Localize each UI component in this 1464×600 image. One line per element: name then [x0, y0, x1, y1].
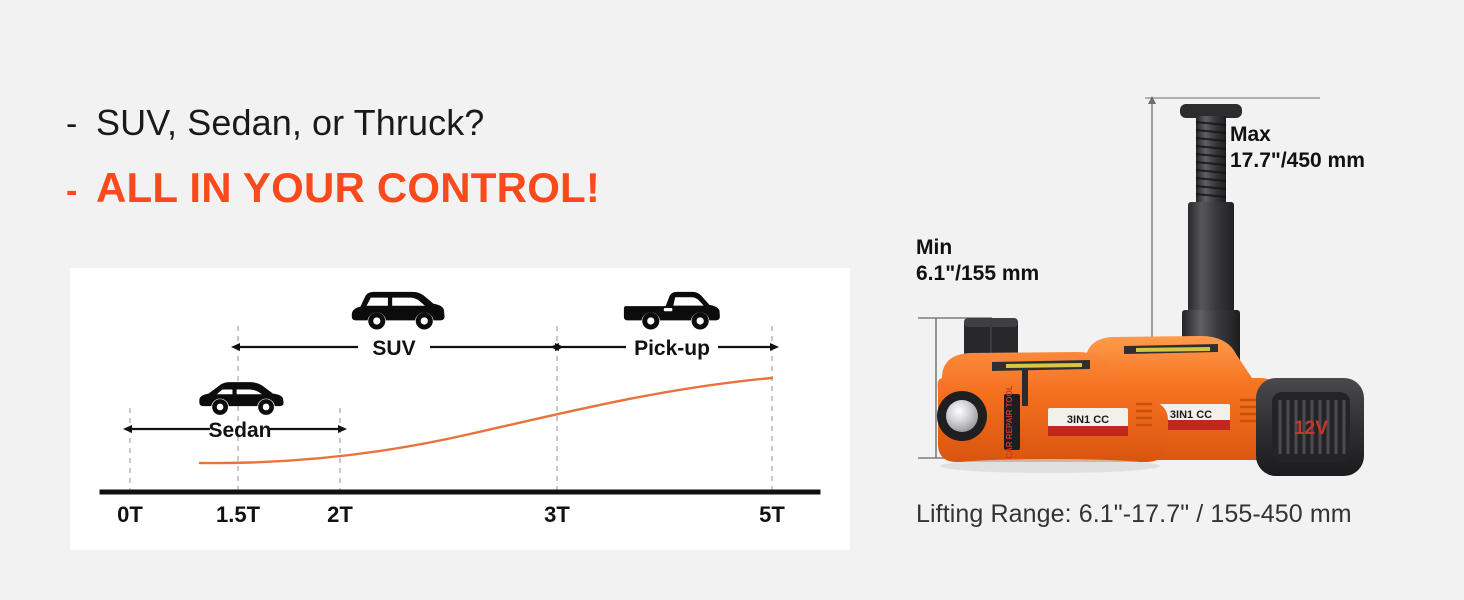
capacity-curve	[200, 378, 772, 463]
front-led-lens	[946, 400, 978, 432]
front-plate-stripe	[1048, 426, 1128, 436]
pickup-icon	[624, 292, 720, 330]
max-label-value: 17.7"/450 mm	[1230, 148, 1365, 174]
headline-row-2: - ALL IN YOUR CONTROL!	[66, 167, 786, 209]
tick-label-0: 0T	[117, 502, 143, 527]
max-dimension-label: Max 17.7"/450 mm	[1230, 122, 1365, 173]
headline-dash-2: -	[66, 174, 96, 208]
headline-dash-1: -	[66, 107, 96, 141]
sedan-icon	[199, 382, 283, 415]
front-arm-post	[1022, 370, 1028, 406]
product-image-block: 3IN1 CC 12V	[900, 60, 1440, 550]
capacity-chart: Sedan SUV	[70, 268, 850, 550]
ram-saddle-cap	[1180, 104, 1242, 118]
bracket-label-sedan: Sedan	[208, 419, 271, 442]
tick-label-4: 5T	[759, 502, 785, 527]
tick-label-1: 1.5T	[216, 502, 261, 527]
voltage-badge: 12V	[1294, 418, 1328, 439]
side-label-text: CAR REPAIR TOOL	[1005, 385, 1014, 459]
suv-icon	[352, 292, 445, 330]
bracket-pickup: Pick-up	[559, 337, 770, 360]
bracket-label-suv: SUV	[372, 337, 415, 360]
headline-block: - SUV, Sedan, or Thruck? - ALL IN YOUR C…	[66, 105, 786, 209]
min-label-value: 6.1"/155 mm	[916, 261, 1039, 287]
chart-tick-labels: 0T 1.5T 2T 3T 5T	[117, 502, 785, 527]
lifting-range-caption: Lifting Range: 6.1"-17.7" / 155-450 mm	[916, 500, 1352, 529]
bracket-label-pickup: Pick-up	[634, 337, 710, 360]
headline-line-2: ALL IN YOUR CONTROL!	[96, 167, 600, 209]
tick-label-2: 2T	[327, 502, 353, 527]
headline-row-1: - SUV, Sedan, or Thruck?	[66, 105, 786, 141]
bracket-suv: SUV	[240, 337, 555, 360]
headline-line-1: SUV, Sedan, or Thruck?	[96, 105, 484, 141]
min-label-title: Min	[916, 235, 1039, 261]
front-base-shadow	[940, 459, 1160, 473]
ram-stage-upper	[1188, 202, 1234, 312]
min-dimension-label: Min 6.1"/155 mm	[916, 235, 1039, 286]
max-label-title: Max	[1230, 122, 1365, 148]
infographic-canvas: - SUV, Sedan, or Thruck? - ALL IN YOUR C…	[0, 0, 1464, 600]
tick-label-3: 3T	[544, 502, 570, 527]
capacity-chart-panel: Sedan SUV	[70, 268, 850, 550]
front-brand-text: 3IN1 CC	[1067, 414, 1109, 426]
bracket-sedan: Sedan	[132, 419, 338, 442]
rear-brand-text: 3IN1 CC	[1170, 409, 1212, 421]
